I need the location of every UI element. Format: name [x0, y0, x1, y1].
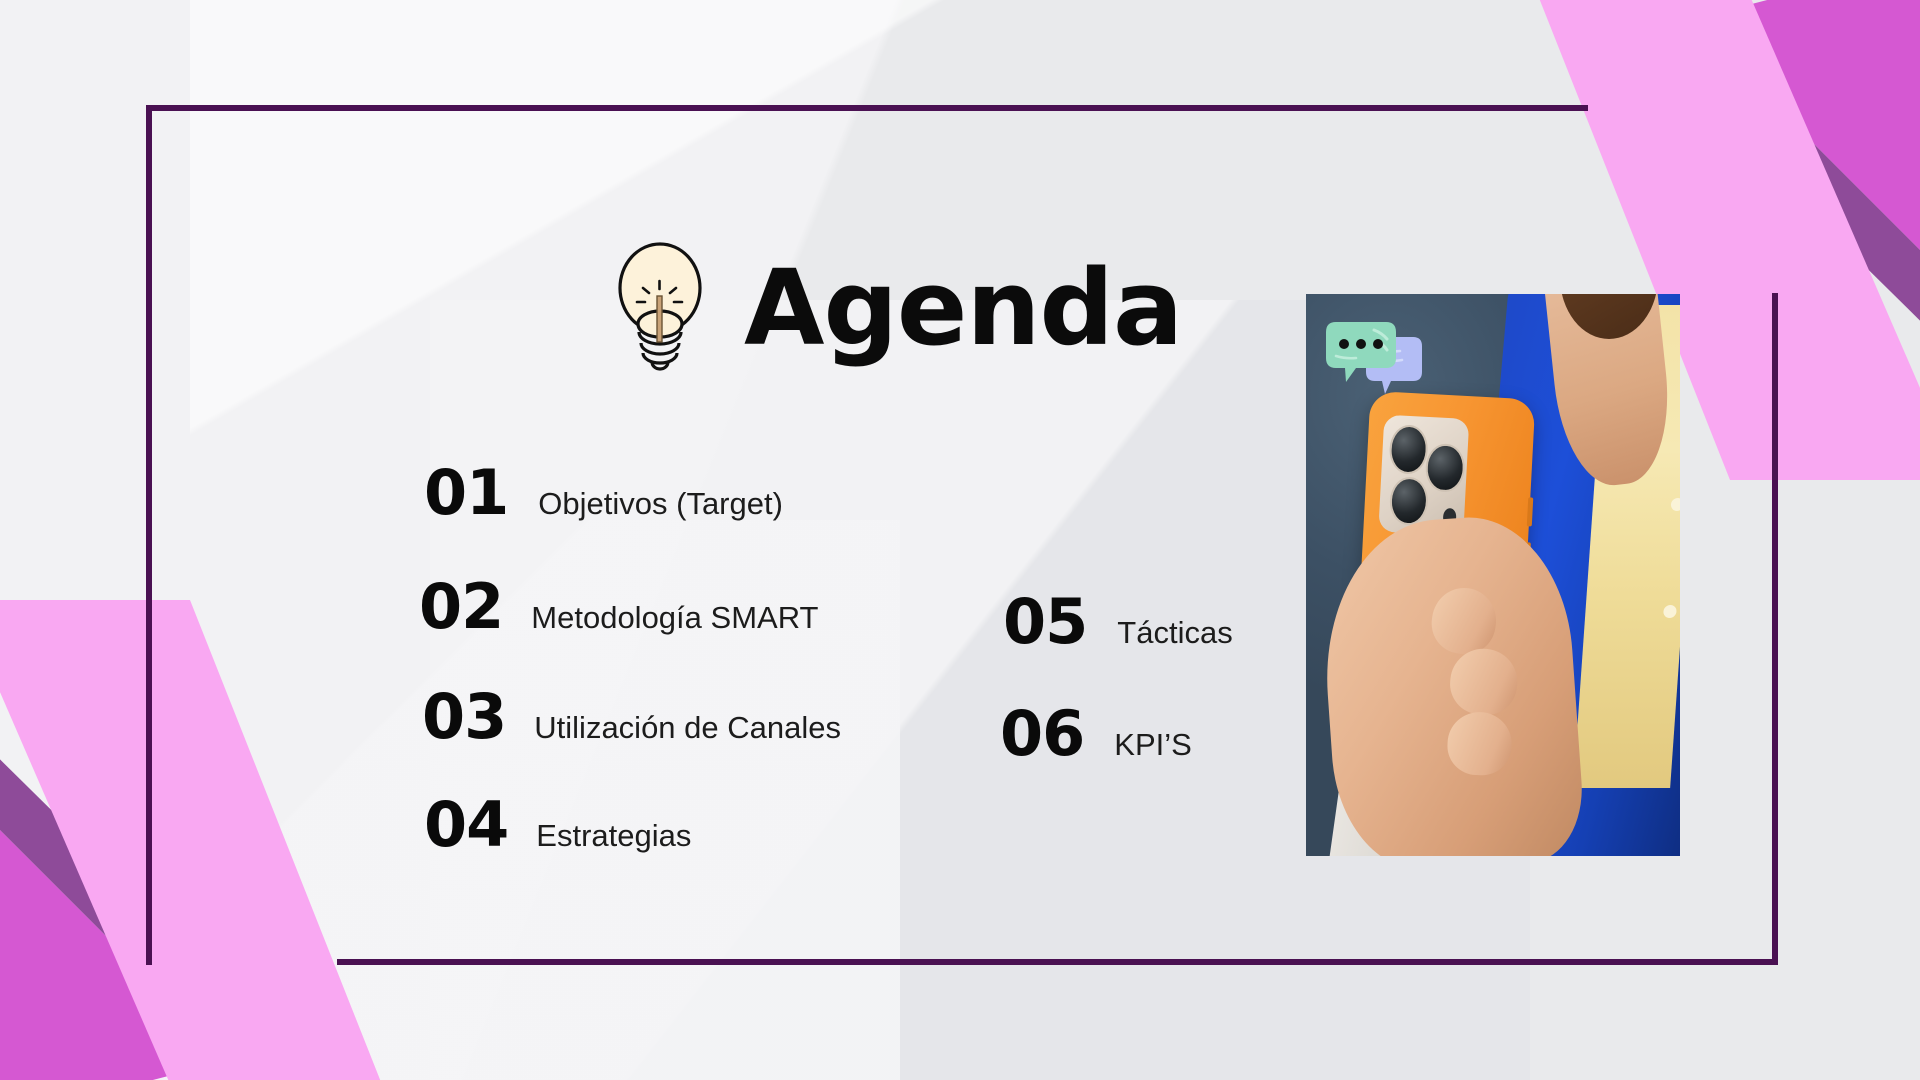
agenda-item-label: Objetivos (Target) [538, 488, 783, 519]
slide-title-row: Agenda [612, 240, 1182, 376]
agenda-item-number: 03 [422, 686, 506, 748]
agenda-item-number: 04 [424, 794, 508, 856]
agenda-item-label: Estrategias [536, 820, 691, 851]
agenda-item-05[interactable]: 05 Tácticas [1003, 591, 1233, 653]
page-title: Agenda [744, 256, 1182, 360]
frame-border-left [146, 105, 152, 965]
agenda-slide: Agenda 01 Objetivos (Target) 02 Metodolo… [0, 0, 1920, 1080]
agenda-item-label: Tácticas [1117, 617, 1232, 648]
agenda-item-label: Metodología SMART [531, 602, 818, 633]
camera-lens [1389, 476, 1430, 527]
frame-border-top [146, 105, 1588, 111]
finger-shape [1448, 646, 1520, 718]
agenda-item-04[interactable]: 04 Estrategias [424, 794, 691, 856]
lightbulb-icon [612, 240, 708, 376]
agenda-item-03[interactable]: 03 Utilización de Canales [422, 686, 841, 748]
shirt-button [1664, 605, 1678, 618]
agenda-item-number: 02 [419, 576, 503, 638]
agenda-item-label: KPI’S [1114, 729, 1192, 760]
agenda-item-number: 05 [1003, 591, 1087, 653]
agenda-item-06[interactable]: 06 KPI’S [1000, 703, 1192, 765]
frame-border-bottom [337, 959, 1778, 965]
shirt-button [1671, 499, 1680, 512]
agenda-item-01[interactable]: 01 Objetivos (Target) [424, 462, 783, 524]
agenda-item-number: 06 [1000, 703, 1084, 765]
slide-photo [1306, 294, 1680, 856]
camera-lens [1388, 424, 1429, 475]
agenda-item-number: 01 [424, 462, 508, 524]
camera-lens [1425, 443, 1466, 494]
agenda-item-label: Utilización de Canales [534, 712, 841, 743]
finger-shape [1428, 583, 1501, 657]
finger-shape [1447, 711, 1513, 776]
frame-border-right [1772, 293, 1778, 965]
speech-bubbles-icon [1322, 316, 1430, 408]
agenda-item-02[interactable]: 02 Metodología SMART [419, 576, 818, 638]
